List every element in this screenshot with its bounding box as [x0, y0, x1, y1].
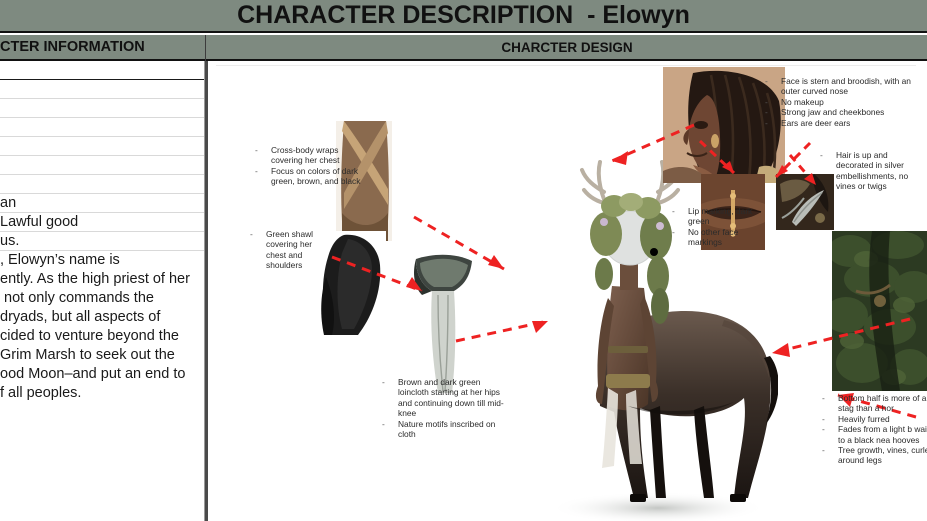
annotation-list: Lip marking, dark greenNo other face mar… — [670, 206, 774, 248]
character-information-row[interactable]: not only commands the — [0, 289, 205, 308]
artwork-fur-texture-reference[interactable] — [832, 231, 927, 391]
character-sheet-page: CHARACTER DESCRIPTION - Elowyn CTER INFO… — [0, 0, 927, 521]
annotation-bullet: Brown and dark green loincloth starting … — [380, 377, 504, 419]
character-information-row[interactable] — [0, 137, 205, 156]
character-information-row[interactable]: dryads, but all aspects of — [0, 308, 205, 327]
canvas-top-rule — [216, 65, 916, 66]
annotation-bullet: Face is stern and broodish, with an oute… — [763, 76, 923, 97]
annotation-bullet: Green shawl covering her chest and shoul… — [248, 229, 314, 271]
character-information-row[interactable] — [0, 61, 205, 80]
character-information-row[interactable] — [0, 80, 205, 99]
annotation-torso-wraps: Cross-body wraps covering her chestFocus… — [253, 145, 365, 187]
character-information-panel[interactable]: anLawful goodus., Elowyn’s name isently.… — [0, 61, 205, 521]
annotation-lower-body: Bottom half is more of a stag than a hor… — [820, 393, 927, 466]
annotation-bullet: Bottom half is more of a stag than a hor — [820, 393, 927, 414]
character-information-row[interactable]: Lawful good — [0, 213, 205, 232]
character-information-row[interactable]: f all peoples. — [0, 384, 205, 403]
character-information-row[interactable] — [0, 118, 205, 137]
annotation-list: Face is stern and broodish, with an oute… — [763, 76, 923, 128]
character-information-row[interactable]: an — [0, 194, 205, 213]
character-information-rows: anLawful goodus., Elowyn’s name isently.… — [0, 61, 205, 403]
annotation-bullet: Lip marking, dark green — [670, 206, 774, 227]
annotation-list: Cross-body wraps covering her chestFocus… — [253, 145, 365, 187]
annotation-bullet: Strong jaw and cheekbones — [763, 107, 923, 117]
character-information-row[interactable]: ood Moon–and put an end to — [0, 365, 205, 384]
annotation-bullet: No makeup — [763, 97, 923, 107]
annotation-bullet: Ears are deer ears — [763, 118, 923, 128]
annotation-shawl: Green shawl covering her chest and shoul… — [248, 229, 314, 271]
annotation-bullet: Focus on colors of dark green, brown, an… — [253, 166, 365, 187]
character-information-row[interactable]: us. — [0, 232, 205, 251]
artwork-shawl-reference[interactable] — [314, 231, 386, 341]
column-header-character-design: CHARCTER DESIGN — [207, 36, 927, 59]
annotation-bullet: Heavily furred — [820, 414, 927, 424]
annotation-loincloth: Brown and dark green loincloth starting … — [380, 377, 504, 439]
annotation-hair: Hair is up and decorated in silver embel… — [818, 150, 926, 192]
annotation-list: Hair is up and decorated in silver embel… — [818, 150, 926, 192]
column-header-character-information: CTER INFORMATION — [0, 35, 205, 59]
annotation-bullet: No other face markings — [670, 227, 774, 248]
annotation-bullet: Nature motifs inscribed on cloth — [380, 419, 504, 440]
header-column-divider — [205, 35, 206, 61]
annotation-bullet: Cross-body wraps covering her chest — [253, 145, 365, 166]
character-information-row[interactable]: Grim Marsh to seek out the — [0, 346, 205, 365]
character-design-canvas[interactable]: Cross-body wraps covering her chestFocus… — [208, 61, 927, 521]
character-information-row[interactable] — [0, 175, 205, 194]
annotation-list: Bottom half is more of a stag than a hor… — [820, 393, 927, 466]
annotation-face: Face is stern and broodish, with an oute… — [763, 76, 923, 128]
annotation-list: Green shawl covering her chest and shoul… — [248, 229, 314, 271]
annotation-bullet: Hair is up and decorated in silver embel… — [818, 150, 926, 192]
character-information-row[interactable]: ently. As the high priest of her — [0, 270, 205, 289]
annotation-bullet: Tree growth, vines, curled around legs — [820, 445, 927, 466]
annotation-bullet: Fades from a light b waist to a black ne… — [820, 424, 927, 445]
character-information-row[interactable] — [0, 99, 205, 118]
page-title: CHARACTER DESCRIPTION - Elowyn — [0, 1, 927, 30]
annotation-lips: Lip marking, dark greenNo other face mar… — [670, 206, 774, 248]
character-information-row[interactable]: , Elowyn’s name is — [0, 251, 205, 270]
annotation-list: Brown and dark green loincloth starting … — [380, 377, 504, 439]
character-information-row[interactable] — [0, 156, 205, 175]
character-information-row[interactable]: cided to venture beyond the — [0, 327, 205, 346]
